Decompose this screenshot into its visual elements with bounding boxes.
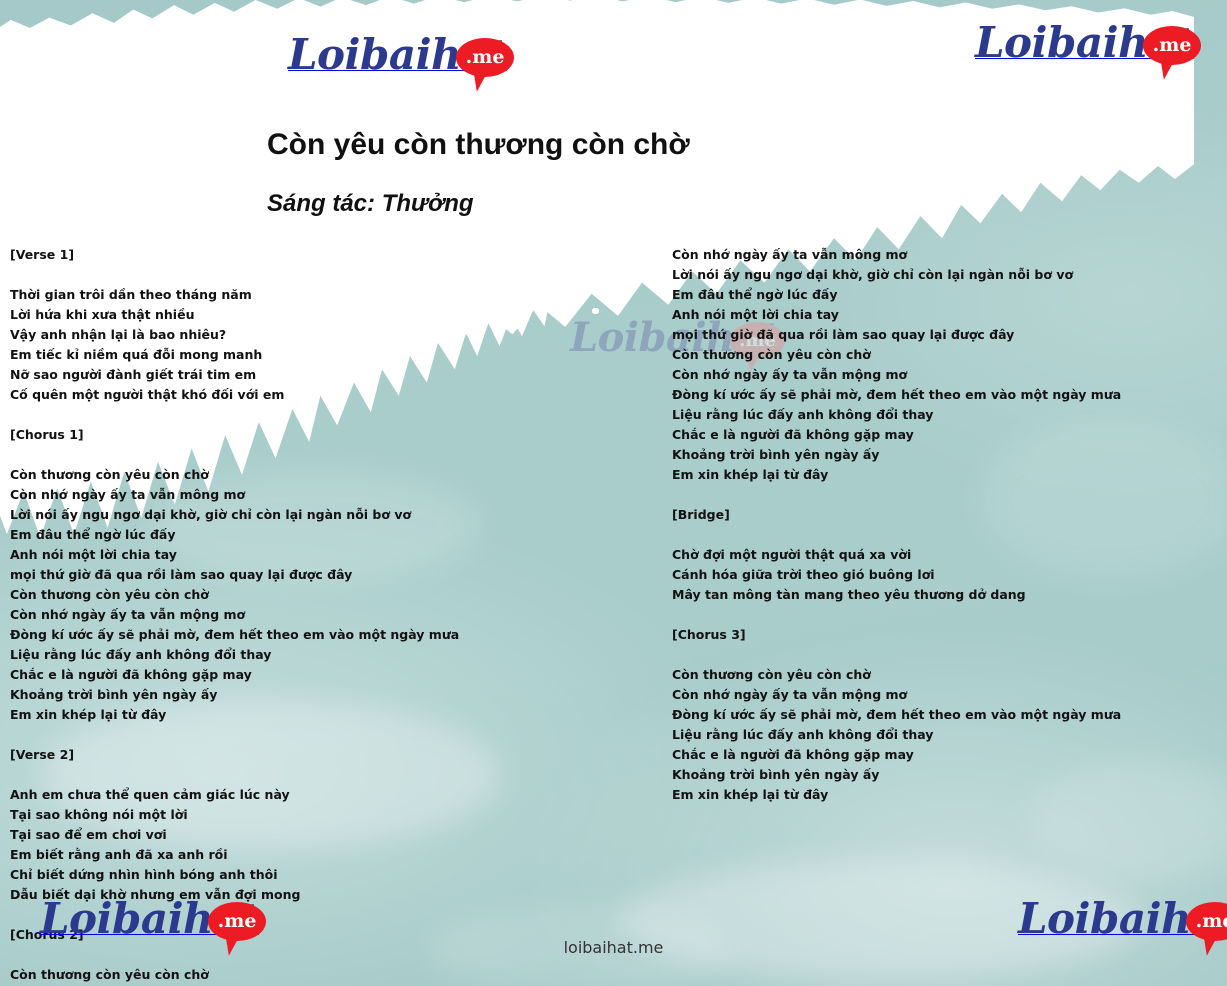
lyric-line: Liệu rằng lúc đấy anh không đổi thay [672, 725, 1220, 745]
logo-badge-me: .me [1143, 26, 1201, 65]
lyric-line: Cánh hóa giữa trời theo gió buông lơi [672, 565, 1220, 585]
lyric-line: Tại sao để em chơi vơi [10, 825, 650, 845]
lyric-line: Chờ đợi một người thật quá xa vời [672, 545, 1220, 565]
lyric-spacer [672, 485, 1220, 505]
lyric-line: Thời gian trôi dần theo tháng năm [10, 285, 650, 305]
lyrics-column-right: Còn nhớ ngày ấy ta vẫn mông mơLời nói ấy… [672, 245, 1220, 805]
lyric-line: Tại sao không nói một lời [10, 805, 650, 825]
lyric-line: Còn nhớ ngày ấy ta vẫn mộng mơ [10, 605, 650, 625]
song-composer: Sáng tác: Thưởng [267, 190, 474, 218]
lyric-line: Liệu rằng lúc đấy anh không đổi thay [672, 405, 1220, 425]
lyric-line: Đòng kí ước ấy sẽ phải mờ, đem hết theo … [672, 385, 1220, 405]
lyric-line: Đòng kí ước ấy sẽ phải mờ, đem hết theo … [10, 625, 650, 645]
song-title: Còn yêu còn thương còn chờ [267, 128, 690, 162]
lyric-line: mọi thứ giờ đã qua rồi làm sao quay lại … [672, 325, 1220, 345]
lyric-line: Còn thương còn yêu còn chờ [672, 345, 1220, 365]
lyric-line: Lời hứa khi xưa thật nhiều [10, 305, 650, 325]
lyric-spacer [672, 525, 1220, 545]
lyric-line: Khoảng trời bình yên ngày ấy [672, 445, 1220, 465]
lyric-line: Khoảng trời bình yên ngày ấy [672, 765, 1220, 785]
lyric-section-tag: [Chorus 3] [672, 625, 1220, 645]
site-logo-top-right[interactable]: Loibaihat .me [975, 22, 1194, 64]
lyric-line: Còn nhớ ngày ấy ta vẫn mông mơ [672, 245, 1220, 265]
lyric-line: Khoảng trời bình yên ngày ấy [10, 685, 650, 705]
lyric-line: Chắc e là người đã không gặp may [672, 745, 1220, 765]
site-logo-bottom-left[interactable]: Loibaihat .me [40, 898, 259, 940]
lyric-section-tag: [Verse 1] [10, 245, 650, 265]
lyric-line: Em biết rằng anh đã xa anh rồi [10, 845, 650, 865]
lyric-line: Vậy anh nhận lại là bao nhiêu? [10, 325, 650, 345]
lyric-spacer [10, 265, 650, 285]
lyric-line: Chỉ biết dứng nhìn hình bóng anh thôi [10, 865, 650, 885]
lyric-section-tag: [Chorus 1] [10, 425, 650, 445]
lyric-line: Em xin khép lại từ đây [672, 465, 1220, 485]
lyric-line: Anh em chưa thể quen cảm giác lúc này [10, 785, 650, 805]
lyric-line: Còn nhớ ngày ấy ta vẫn mông mơ [10, 485, 650, 505]
lyric-line: Chắc e là người đã không gặp may [10, 665, 650, 685]
lyric-spacer [10, 445, 650, 465]
lyric-line: mọi thứ giờ đã qua rồi làm sao quay lại … [10, 565, 650, 585]
lyric-spacer [10, 725, 650, 745]
lyric-line: Cố quên một người thật khó đối với em [10, 385, 650, 405]
lyric-spacer [672, 645, 1220, 665]
lyric-line: Còn nhớ ngày ấy ta vẫn mộng mơ [672, 365, 1220, 385]
site-logo-bottom-right[interactable]: Loibaihat .me [1018, 898, 1227, 940]
lyric-line: Chắc e là người đã không gặp may [672, 425, 1220, 445]
lyric-line: Còn thương còn yêu còn chờ [672, 665, 1220, 685]
lyric-section-tag: [Bridge] [672, 505, 1220, 525]
lyric-line: Còn thương còn yêu còn chờ [10, 965, 650, 985]
lyric-line: Liệu rằng lúc đấy anh không đổi thay [10, 645, 650, 665]
paper-speck [520, 206, 528, 212]
lyric-line: Em đâu thể ngờ lúc đấy [672, 285, 1220, 305]
lyric-line: Em xin khép lại từ đây [672, 785, 1220, 805]
lyric-spacer [672, 605, 1220, 625]
lyric-line: Lời nói ấy ngu ngơ dại khờ, giờ chỉ còn … [10, 505, 650, 525]
lyric-line: Còn thương còn yêu còn chờ [10, 465, 650, 485]
lyric-line: Còn nhớ ngày ấy ta vẫn mộng mơ [672, 685, 1220, 705]
lyric-line: Em tiếc kỉ niềm quá đỗi mong manh [10, 345, 650, 365]
lyric-line: Em xin khép lại từ đây [10, 705, 650, 725]
lyric-section-tag: [Verse 2] [10, 745, 650, 765]
site-footer-url: loibaihat.me [0, 938, 1227, 957]
lyric-spacer [10, 765, 650, 785]
logo-badge-me: .me [456, 38, 514, 77]
site-logo-top-left[interactable]: Loibaihat .me [288, 34, 507, 76]
lyric-line: Nỡ sao người đành giết trái tim em [10, 365, 650, 385]
lyric-spacer [10, 405, 650, 425]
lyrics-column-left: [Verse 1] Thời gian trôi dần theo tháng … [10, 245, 650, 985]
lyric-line: Mây tan mông tàn mang theo yêu thương dở… [672, 585, 1220, 605]
lyric-line: Đòng kí ước ấy sẽ phải mờ, đem hết theo … [672, 705, 1220, 725]
logo-badge-me: .me [208, 902, 266, 941]
lyric-line: Lời nói ấy ngu ngơ dại khờ, giờ chỉ còn … [672, 265, 1220, 285]
lyric-line: Em đâu thể ngờ lúc đấy [10, 525, 650, 545]
lyric-line: Anh nói một lời chia tay [10, 545, 650, 565]
lyric-line: Còn thương còn yêu còn chờ [10, 585, 650, 605]
lyrics-page: Loibaihat .me Loibaihat .me Loibaihat .m… [0, 0, 1227, 986]
lyric-line: Anh nói một lời chia tay [672, 305, 1220, 325]
